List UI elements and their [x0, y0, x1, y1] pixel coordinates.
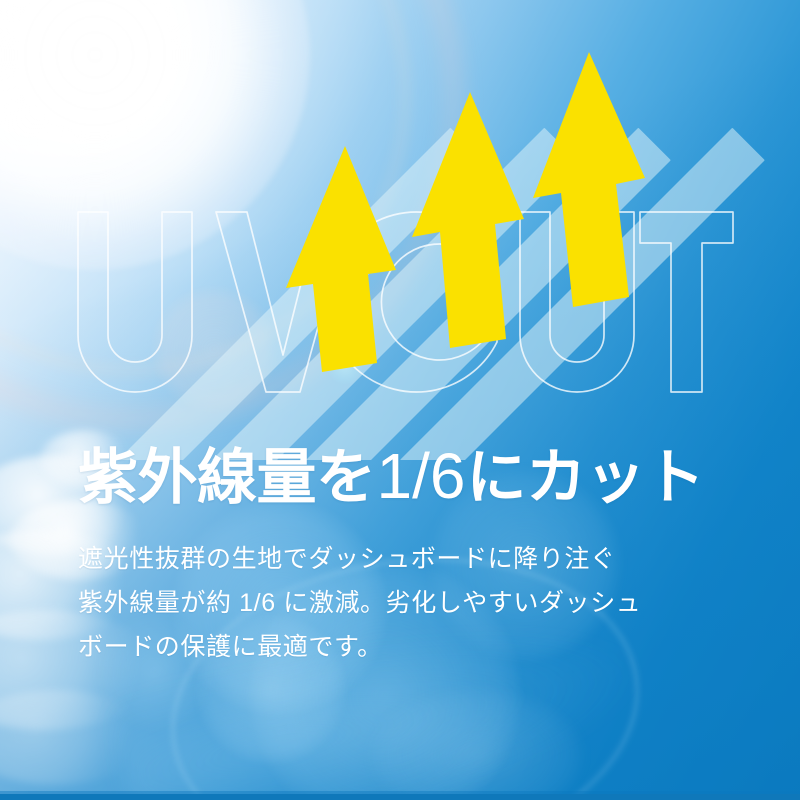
headline-post: にカット	[466, 444, 704, 511]
body-line: 紫外線量が約 1/6 に激減。劣化しやすいダッシュ	[78, 581, 738, 625]
headline-fraction: 1/6	[376, 440, 467, 512]
copy-block: 紫外線量を1/6にカット 遮光性抜群の生地でダッシュボードに降り注ぐ 紫外線量が…	[78, 443, 738, 669]
body-line: 遮光性抜群の生地でダッシュボードに降り注ぐ	[78, 537, 738, 581]
body-line: ボードの保護に最適です。	[78, 625, 738, 669]
body-copy: 遮光性抜群の生地でダッシュボードに降り注ぐ 紫外線量が約 1/6 に激減。劣化し…	[78, 537, 738, 669]
uv-cut-banner: 紫外線量を1/6にカット 遮光性抜群の生地でダッシュボードに降り注ぐ 紫外線量が…	[0, 0, 800, 800]
headline: 紫外線量を1/6にカット	[78, 443, 738, 511]
diagonal-stripe-group	[0, 60, 800, 460]
headline-pre: 紫外線量を	[78, 444, 376, 511]
bottom-divider	[0, 794, 800, 800]
